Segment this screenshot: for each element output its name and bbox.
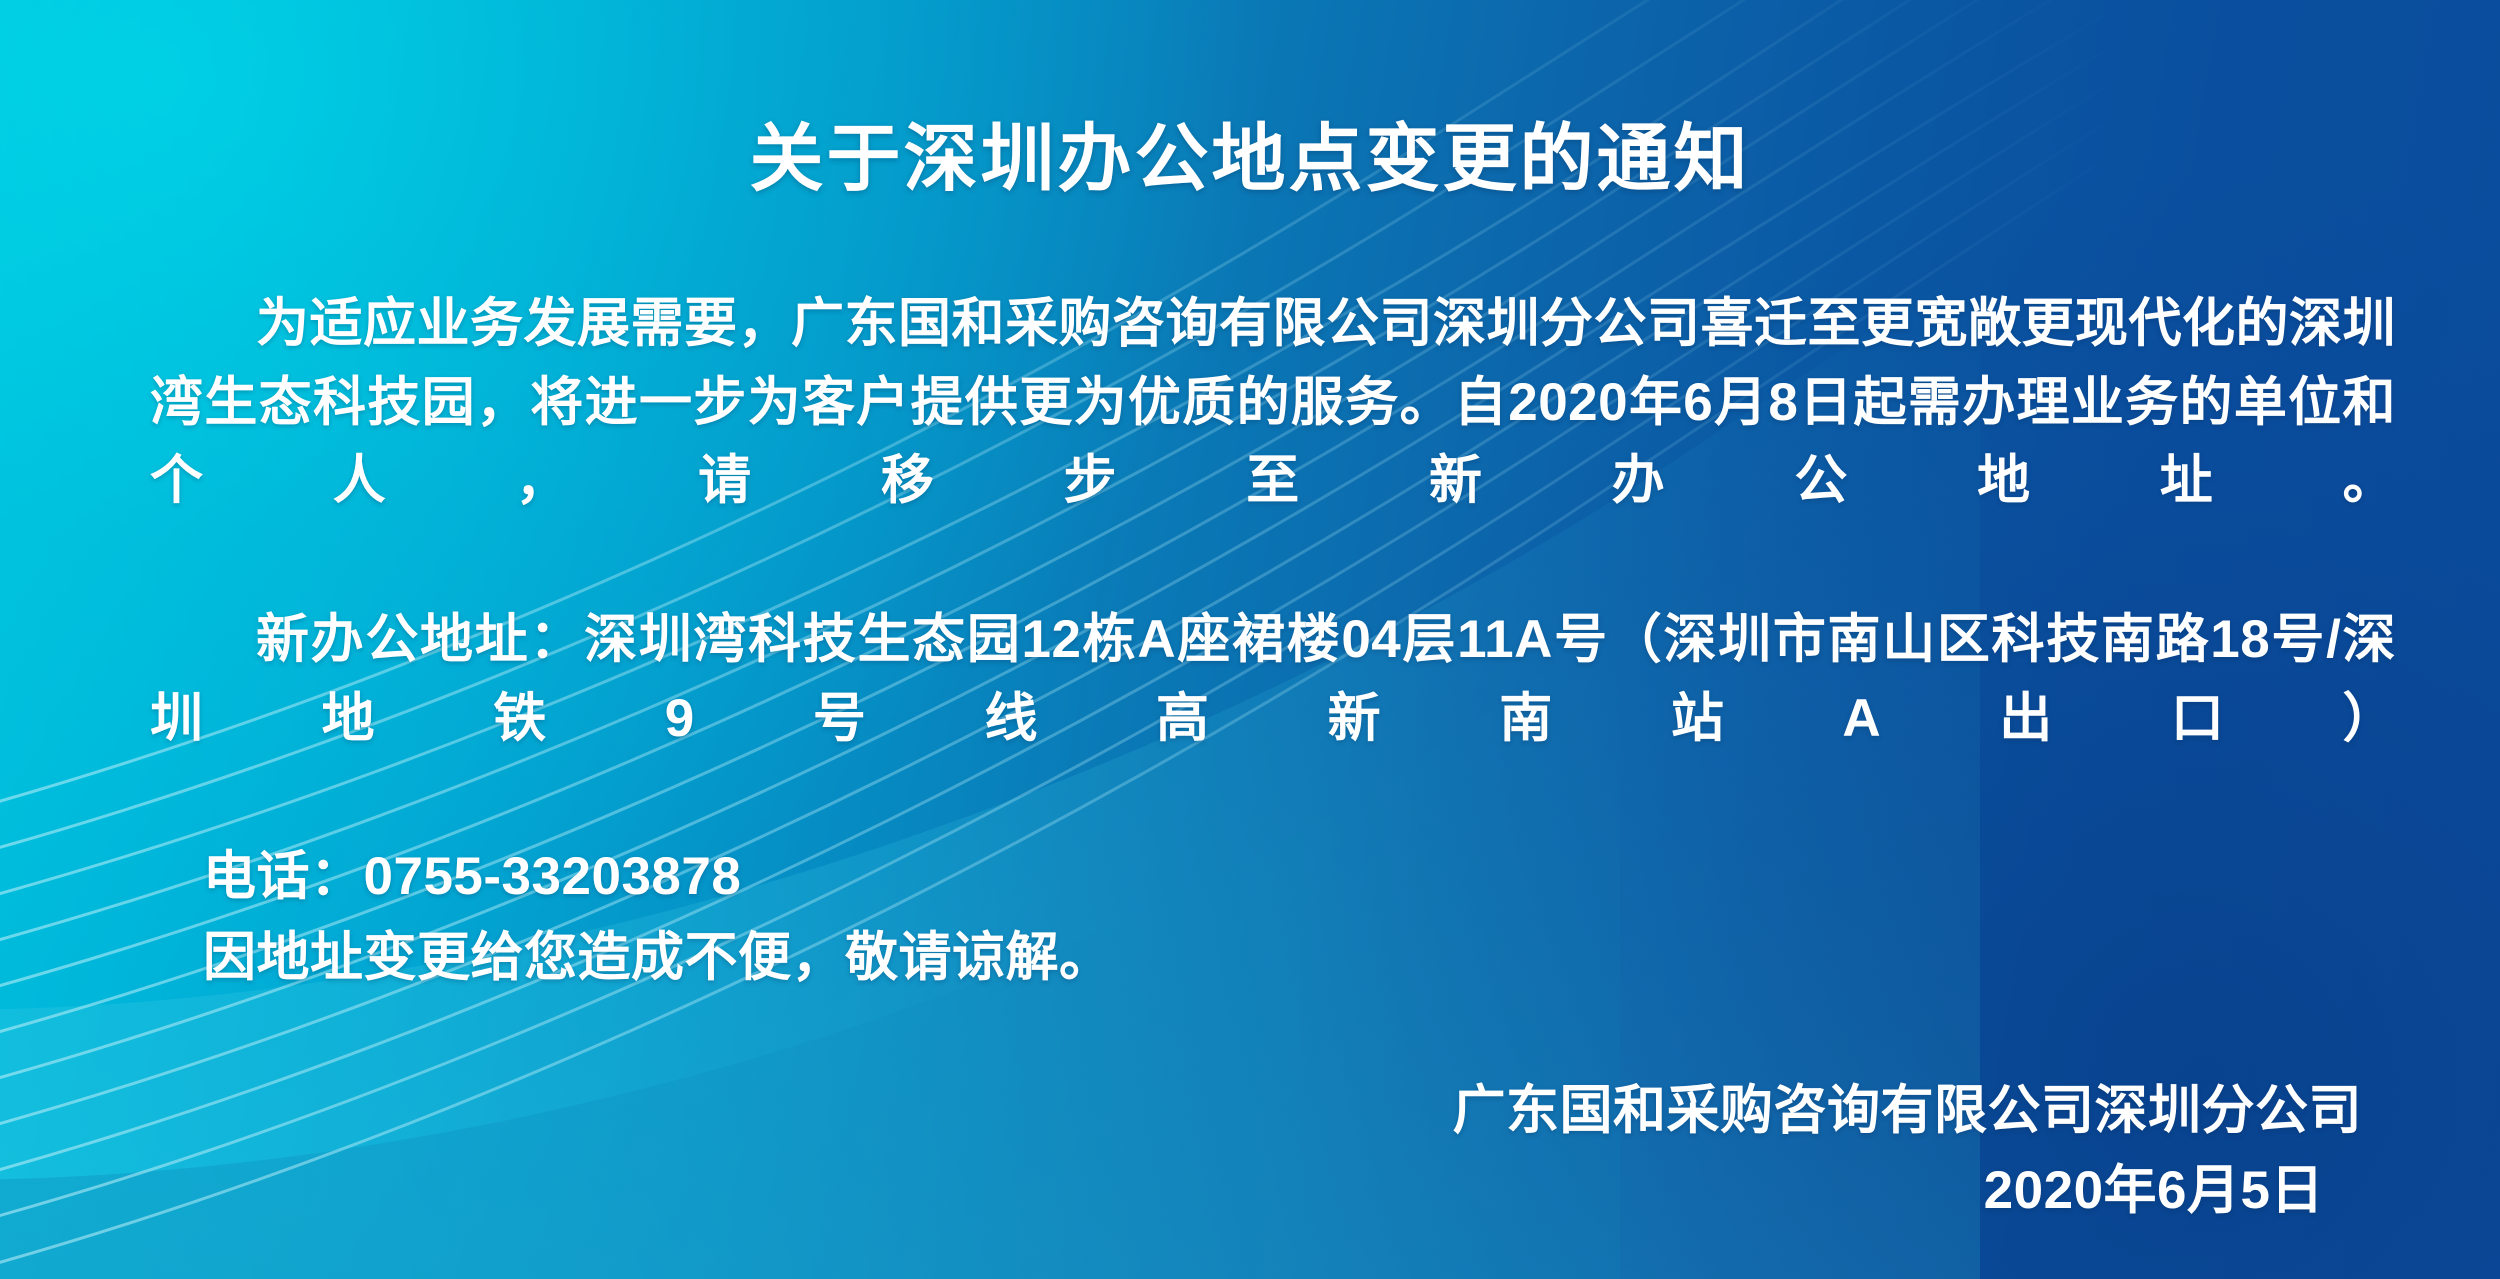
signature-block: 广东国和采购咨询有限公司深圳分公司 2020年6月5日: [64, 1071, 2436, 1230]
body-paragraph-1: 为适应业务发展需要，广东国和采购咨询有限公司深圳分公司喜迁至更宽敞更现代化的深圳…: [150, 285, 2396, 599]
notice-poster: 关于深圳办公地点变更的通知 为适应业务发展需要，广东国和采购咨询有限公司深圳分公…: [0, 0, 2500, 1279]
signature-date: 2020年6月5日: [64, 1151, 2362, 1231]
body-paragraph-2-address: 新办公地址：深圳湾科技生态园12栋A座裙楼04层11A号（深圳市南山区科技南路1…: [150, 601, 2396, 836]
notice-body: 为适应业务发展需要，广东国和采购咨询有限公司深圳分公司喜迁至更宽敞更现代化的深圳…: [64, 285, 2436, 997]
notice-content: 关于深圳办公地点变更的通知 为适应业务发展需要，广东国和采购咨询有限公司深圳分公…: [0, 0, 2500, 1279]
body-paragraph-4-apology: 因地址变更给您造成不便，敬请谅解。: [150, 919, 2396, 997]
signature-organization: 广东国和采购咨询有限公司深圳分公司: [64, 1071, 2362, 1151]
page-title: 关于深圳办公地点变更的通知: [64, 0, 2436, 199]
body-paragraph-3-phone: 电话：0755-33203878: [150, 838, 2396, 916]
